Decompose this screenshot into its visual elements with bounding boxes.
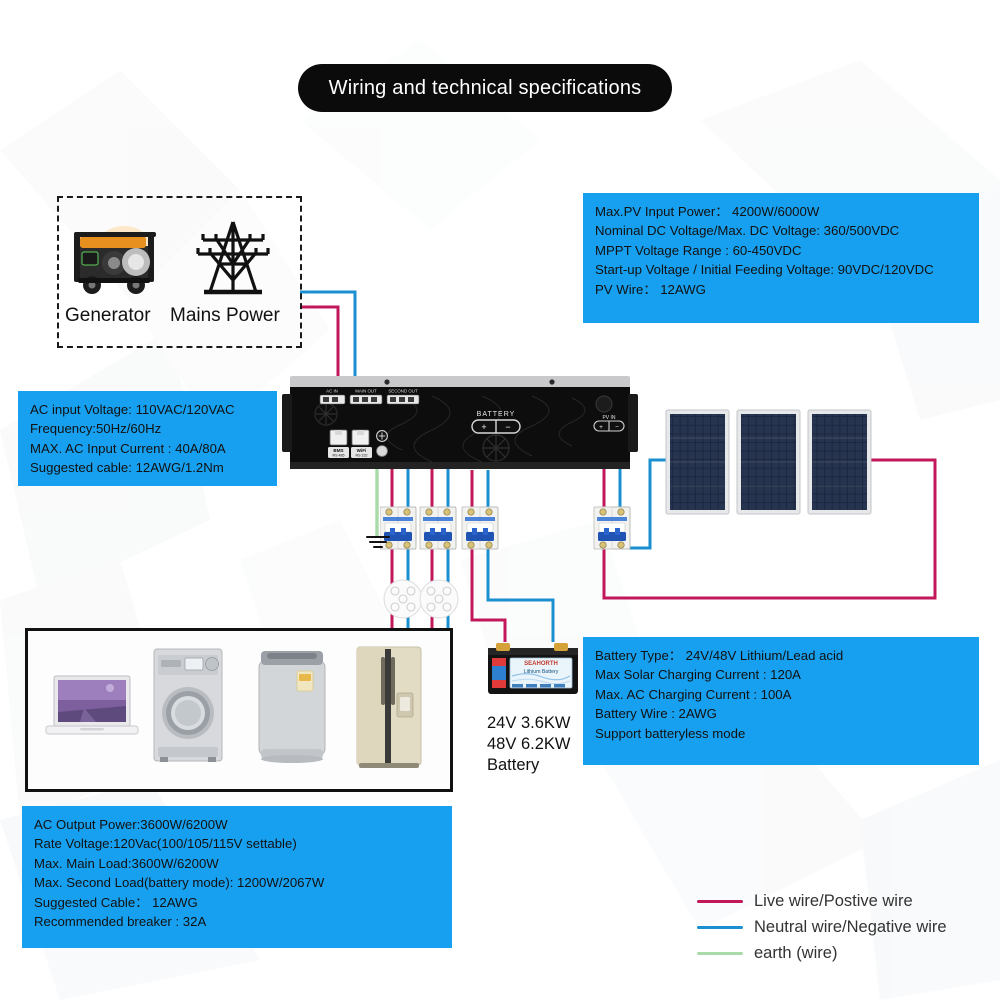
junction-box-pair	[382, 578, 460, 620]
svg-text:+: +	[481, 422, 486, 432]
ac-output-specs-box: AC Output Power:3600W/6200W Rate Voltage…	[22, 806, 452, 948]
legend-neutral-swatch	[697, 926, 743, 929]
battery-caption: 24V 3.6KW 48V 6.2KW Battery	[487, 713, 597, 776]
transmission-tower-icon	[190, 218, 276, 302]
legend-live-label: Live wire/Postive wire	[754, 892, 913, 911]
svg-text:−: −	[615, 424, 619, 431]
svg-text:−: −	[505, 422, 510, 432]
svg-text:BATTERY: BATTERY	[477, 411, 516, 418]
solar-panel-array	[665, 408, 872, 516]
generator-icon	[68, 222, 168, 300]
pv-spec-line-1: Max.PV Input Power： 4200W/6000W	[595, 202, 969, 221]
top-load-washing-machine-icon	[255, 645, 329, 765]
pv-spec-line-4: Start-up Voltage / Initial Feeding Volta…	[595, 260, 969, 279]
ac-output-spec-line-5: Suggested Cable： 12AWG	[34, 893, 442, 912]
battery-specs-box: Battery Type： 24V/48V Lithium/Lead acid …	[583, 637, 979, 765]
legend-live-swatch	[697, 900, 743, 903]
ac-input-specs-box: AC input Voltage: 110VAC/120VAC Frequenc…	[18, 391, 277, 486]
legend-earth-label: earth (wire)	[754, 944, 837, 963]
svg-text:WiFi: WiFi	[357, 448, 367, 453]
earth-ground-symbol	[364, 534, 392, 550]
battery-spec-line-4: Battery Wire : 2AWG	[595, 704, 969, 723]
battery-spec-line-5: Support batteryless mode	[595, 724, 969, 743]
battery-caption-line-2: 48V 6.2KW	[487, 734, 597, 755]
inverter-unit: AC IN MAIN OUT SECOND OUT BATTERY + − PV…	[282, 376, 638, 476]
ac-input-spec-line-4: Suggested cable: 12AWG/1.2Nm	[30, 458, 267, 477]
pv-spec-line-3: MPPT Voltage Range : 60-450VDC	[595, 241, 969, 260]
mains-power-label: Mains Power	[170, 305, 280, 327]
svg-text:AC IN: AC IN	[326, 389, 338, 394]
battery-spec-line-1: Battery Type： 24V/48V Lithium/Lead acid	[595, 646, 969, 665]
ac-output-spec-line-6: Recommended breaker : 32A	[34, 912, 442, 931]
legend-row-live: Live wire/Postive wire	[697, 888, 987, 914]
svg-text:PV IN: PV IN	[602, 415, 615, 421]
ac-input-spec-line-1: AC input Voltage: 110VAC/120VAC	[30, 400, 267, 419]
refrigerator-icon	[353, 643, 425, 771]
laptop-icon	[44, 672, 140, 744]
ac-input-spec-line-3: MAX. AC Input Current : 40A/80A	[30, 439, 267, 458]
svg-text:BMS: BMS	[333, 448, 343, 453]
battery-spec-line-3: Max. AC Charging Current : 100A	[595, 685, 969, 704]
ac-input-spec-line-2: Frequency:50Hz/60Hz	[30, 419, 267, 438]
legend-row-earth: earth (wire)	[697, 940, 987, 966]
legend-row-neutral: Neutral wire/Negative wire	[697, 914, 987, 940]
diagram-canvas: Wiring and technical specifications	[0, 0, 1000, 1000]
generator-label: Generator	[65, 305, 151, 327]
ac-output-spec-line-3: Max. Main Load:3600W/6200W	[34, 854, 442, 873]
circuit-breaker-row	[380, 505, 635, 551]
legend-earth-swatch	[697, 952, 743, 955]
page-title: Wiring and technical specifications	[298, 64, 672, 112]
ac-output-spec-line-1: AC Output Power:3600W/6200W	[34, 815, 442, 834]
pv-spec-line-5: PV Wire： 12AWG	[595, 280, 969, 299]
front-load-washing-machine-icon	[152, 647, 224, 764]
svg-text:SEAHORTH: SEAHORTH	[524, 661, 558, 667]
svg-text:MAIN OUT: MAIN OUT	[355, 389, 377, 394]
wire-legend: Live wire/Postive wire Neutral wire/Nega…	[697, 888, 987, 966]
battery-spec-line-2: Max Solar Charging Current : 120A	[595, 665, 969, 684]
ac-output-spec-line-2: Rate Voltage:120Vac(100/105/115V settabl…	[34, 834, 442, 853]
pv-input-specs-box: Max.PV Input Power： 4200W/6000W Nominal …	[583, 193, 979, 323]
legend-neutral-label: Neutral wire/Negative wire	[754, 918, 947, 937]
pv-spec-line-2: Nominal DC Voltage/Max. DC Voltage: 360/…	[595, 221, 969, 240]
svg-text:RS 232: RS 232	[356, 454, 368, 458]
battery-caption-line-3: Battery	[487, 755, 597, 776]
battery-icon: SEAHORTH Lithium Battery	[484, 640, 582, 698]
battery-caption-line-1: 24V 3.6KW	[487, 713, 597, 734]
svg-text:RS 485: RS 485	[333, 454, 345, 458]
svg-text:+: +	[599, 424, 603, 431]
ac-output-spec-line-4: Max. Second Load(battery mode): 1200W/20…	[34, 873, 442, 892]
svg-text:SECOND OUT: SECOND OUT	[388, 389, 418, 394]
